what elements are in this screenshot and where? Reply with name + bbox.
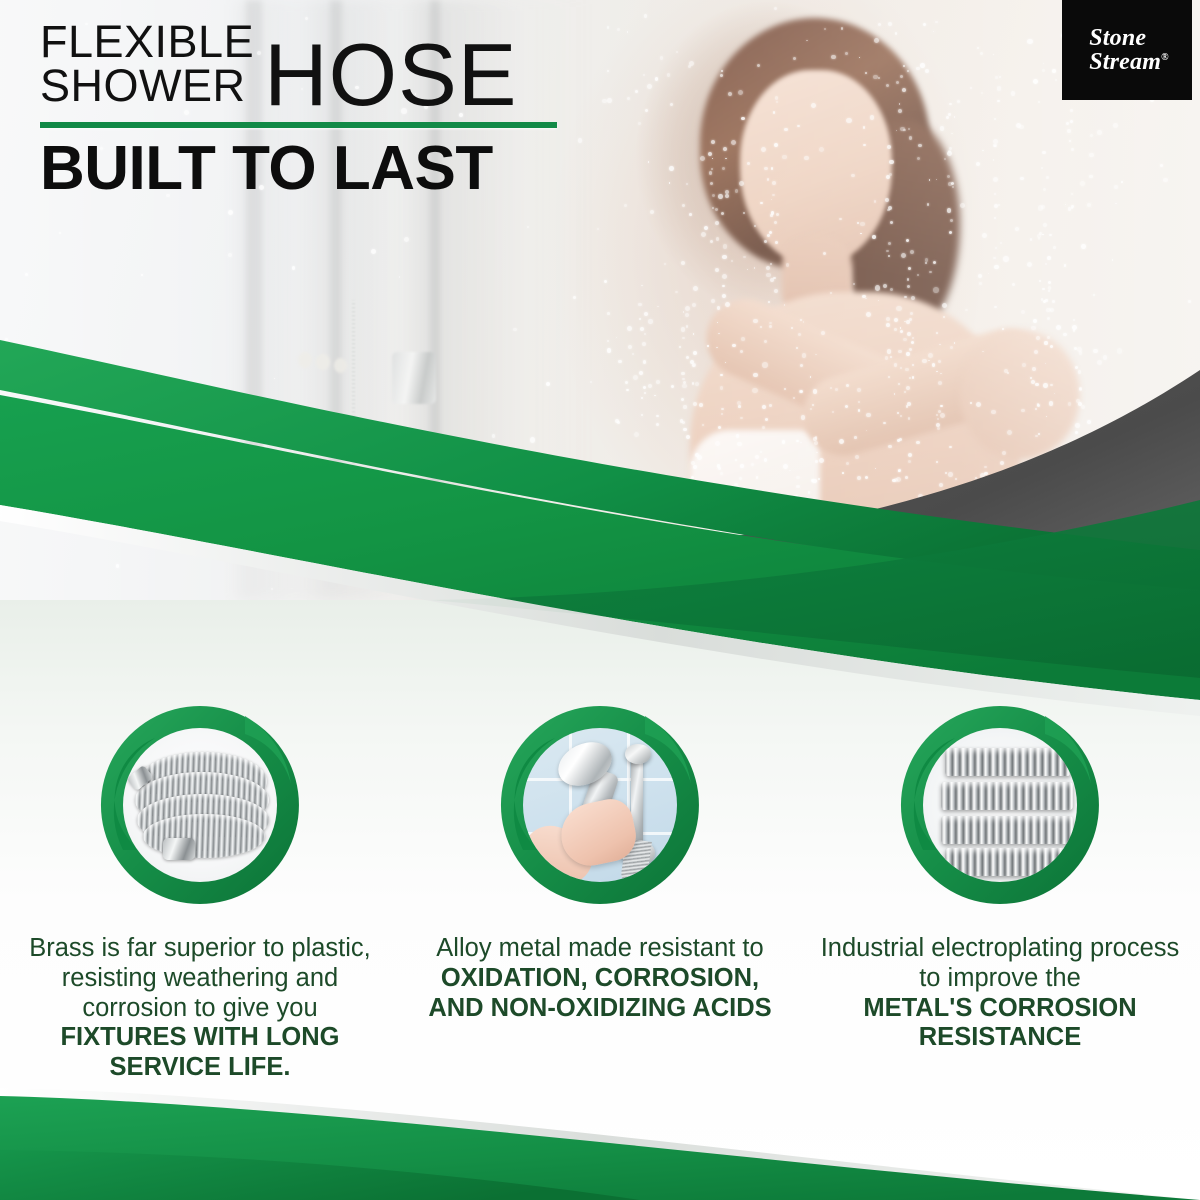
water-droplet [399, 276, 401, 278]
water-droplet-trail [993, 144, 997, 148]
water-droplet [960, 203, 965, 208]
water-droplet [1090, 134, 1093, 137]
water-droplet [819, 147, 824, 152]
water-droplet-trail [947, 208, 952, 213]
water-droplet-trail [722, 167, 725, 170]
water-droplet-trail [886, 250, 889, 253]
water-droplet [718, 194, 723, 199]
brand-logo-text: Stone Stream® [1085, 26, 1169, 75]
water-droplet [681, 261, 685, 265]
water-droplet-trail [1049, 234, 1051, 236]
water-droplet-trail [722, 294, 727, 299]
water-droplet-trail [774, 221, 777, 224]
water-droplet-trail [888, 242, 891, 245]
water-droplet [859, 57, 861, 59]
feature-caption-bold: METAL'S CORROSION RESISTANCE [814, 994, 1186, 1054]
headline-small-lines: FLEXIBLE SHOWER [40, 20, 254, 108]
water-droplet-trail [1042, 288, 1045, 291]
water-droplet [860, 233, 862, 235]
feature-item: Industrial electroplating process to imp… [800, 700, 1200, 1083]
water-droplet-trail [722, 255, 727, 260]
water-droplet-trail [994, 118, 996, 120]
water-droplet [863, 126, 866, 129]
water-droplet-trail [999, 76, 1001, 78]
water-droplet [774, 143, 778, 147]
water-droplet [878, 23, 881, 26]
water-droplet-trail [723, 244, 728, 249]
water-droplet [747, 269, 749, 271]
water-droplet [804, 156, 808, 160]
water-droplet [1081, 244, 1086, 249]
water-droplet [904, 296, 907, 299]
water-droplet-trail [947, 175, 950, 178]
brand-logo-line-2-wrap: Stream® [1089, 50, 1169, 74]
water-droplet-trail [949, 103, 952, 106]
water-droplet-trail [903, 129, 906, 132]
water-droplet [604, 280, 607, 283]
water-droplet [1033, 79, 1038, 84]
water-droplet [901, 253, 907, 259]
water-droplet [767, 178, 770, 181]
water-droplet-trail [949, 231, 953, 235]
water-droplet [923, 23, 926, 26]
water-droplet [935, 21, 938, 24]
water-droplet-trail [994, 193, 996, 195]
water-droplet [404, 237, 409, 242]
water-droplet [1011, 91, 1016, 96]
water-droplet [929, 271, 931, 273]
water-droplet [624, 204, 627, 207]
water-droplet [292, 266, 296, 270]
water-droplet-trail [951, 182, 954, 185]
water-droplet [597, 228, 599, 230]
water-droplet-trail [709, 171, 712, 174]
water-droplet [841, 27, 844, 30]
feature-caption-bold: OXIDATION, CORROSION, AND NON-OXIDIZING … [414, 964, 786, 1024]
hand-holding-showerhead-photo [523, 728, 677, 882]
water-droplet-trail [712, 158, 714, 160]
water-droplet [1080, 181, 1085, 186]
water-droplet [1020, 177, 1024, 181]
water-droplet [731, 260, 734, 263]
water-droplet [731, 140, 736, 145]
water-droplet [811, 103, 816, 108]
water-droplet [874, 200, 876, 202]
water-droplet-trail [1066, 122, 1069, 125]
water-droplet-trail [773, 277, 776, 280]
water-droplet [988, 273, 989, 274]
water-droplet [735, 189, 739, 193]
water-droplet-trail [899, 103, 901, 105]
water-droplet-trail [949, 147, 952, 150]
brand-logo-line-1: Stone [1089, 26, 1169, 50]
water-droplet-trail [715, 268, 719, 272]
water-droplet [757, 64, 760, 67]
water-droplet-trail [776, 213, 779, 216]
water-droplet [830, 292, 832, 294]
water-droplet [669, 182, 671, 184]
water-droplet-trail [722, 285, 725, 288]
water-droplet [667, 73, 670, 76]
water-droplet [1112, 259, 1114, 261]
water-droplet-trail [1046, 176, 1049, 179]
water-droplet-trail [910, 250, 914, 254]
water-droplet [970, 87, 973, 90]
water-droplet [886, 84, 890, 88]
water-droplet-trail [885, 198, 889, 202]
water-droplet [701, 232, 706, 237]
headline-line-2: SHOWER [40, 64, 254, 108]
headline-emphasis: HOSE [264, 38, 517, 112]
water-droplet [925, 69, 929, 73]
water-droplet-trail [772, 181, 776, 185]
water-droplet-trail [907, 278, 910, 281]
water-droplet-trail [997, 100, 999, 102]
water-droplet [1038, 237, 1040, 239]
feature-item: Alloy metal made resistant to OXIDATION,… [400, 700, 800, 1083]
water-droplet [1055, 79, 1057, 81]
water-droplet-trail [888, 255, 890, 257]
water-droplet [981, 92, 983, 94]
water-droplet [1027, 262, 1032, 267]
water-droplet-trail [948, 150, 951, 153]
water-droplet-trail [952, 186, 954, 188]
water-droplet-trail [994, 217, 997, 220]
water-droplet [1000, 242, 1002, 244]
water-droplet [776, 101, 778, 103]
water-droplet [865, 72, 867, 74]
water-droplet-trail [711, 168, 713, 170]
water-droplet-trail [1071, 207, 1073, 209]
brand-logo: Stone Stream® [1062, 0, 1192, 100]
water-droplet [797, 125, 800, 128]
water-droplet-trail [710, 240, 713, 243]
water-droplet-trail [715, 221, 719, 225]
water-droplet [929, 179, 931, 181]
feature-caption-normal: Alloy metal made resistant to [436, 934, 763, 962]
water-droplet [754, 267, 756, 269]
water-droplet [743, 212, 745, 214]
water-droplet-trail [1043, 223, 1047, 227]
water-droplet [979, 282, 982, 285]
water-droplet [860, 222, 864, 226]
water-droplet-trail [994, 204, 998, 208]
water-droplet [933, 261, 936, 264]
water-droplet [976, 162, 980, 166]
water-droplet [853, 283, 855, 285]
water-droplet-trail [1043, 188, 1046, 191]
water-droplet [927, 203, 930, 206]
water-droplet [793, 57, 796, 60]
water-droplet [977, 47, 980, 50]
water-droplet [693, 286, 698, 291]
green-swoosh-svg [0, 300, 1200, 720]
water-droplet-trail [723, 147, 727, 151]
water-droplet [896, 81, 899, 84]
water-droplet [573, 296, 576, 299]
coiled-shower-hose-photo [123, 728, 277, 882]
water-droplet [1015, 227, 1019, 231]
feature-caption-normal: Industrial electroplating process to imp… [821, 934, 1180, 992]
water-droplet [722, 274, 727, 279]
water-droplet [775, 96, 779, 100]
water-droplet [784, 128, 788, 132]
feature-row: Brass is far superior to plastic, resist… [0, 700, 1200, 1083]
water-droplet-trail [1048, 290, 1050, 292]
water-droplet [721, 70, 724, 73]
water-droplet [371, 249, 376, 254]
feature-caption: Industrial electroplating process to imp… [814, 934, 1186, 1053]
water-droplet [774, 7, 777, 10]
water-droplet [903, 65, 905, 67]
water-droplet [1052, 69, 1056, 73]
water-droplet-trail [998, 204, 1000, 206]
water-droplet [771, 167, 773, 169]
water-droplet [738, 90, 743, 95]
water-droplet-trail [887, 209, 890, 212]
water-droplet [993, 54, 994, 55]
water-droplet [682, 204, 685, 207]
water-droplet [747, 162, 750, 165]
water-droplet-trail [1041, 205, 1045, 209]
water-droplet [1163, 178, 1168, 183]
water-droplet-trail [721, 212, 724, 215]
water-droplet [888, 22, 892, 26]
water-droplet-trail [883, 284, 887, 288]
water-droplet [664, 263, 666, 265]
water-droplet [1115, 203, 1117, 205]
water-droplet [670, 103, 673, 106]
water-droplet [940, 126, 944, 130]
water-droplet-trail [1067, 129, 1071, 133]
water-droplet [824, 28, 826, 30]
water-droplet [1097, 130, 1102, 135]
feature-item: Brass is far superior to plastic, resist… [0, 700, 400, 1083]
water-droplet [1043, 63, 1045, 65]
water-droplet [917, 157, 920, 160]
water-droplet-trail [1041, 167, 1044, 170]
water-droplet [644, 14, 647, 17]
water-droplet [228, 210, 233, 215]
headline-top-row: FLEXIBLE SHOWER HOSE [40, 20, 660, 108]
green-swoosh-band [0, 300, 1200, 720]
water-droplet [839, 218, 842, 221]
water-droplet [1064, 264, 1066, 266]
water-droplet [650, 210, 654, 214]
water-droplet [1160, 164, 1163, 167]
water-droplet [933, 31, 934, 32]
water-droplet-trail [1070, 109, 1073, 112]
water-droplet [896, 130, 898, 132]
water-droplet-trail [994, 265, 998, 269]
water-droplet [1089, 153, 1094, 158]
water-droplet [741, 117, 744, 120]
water-droplet [764, 167, 768, 171]
headline-line-1: FLEXIBLE [40, 20, 254, 64]
water-droplet [978, 274, 982, 278]
water-droplet [995, 76, 998, 79]
water-droplet [1114, 185, 1118, 189]
water-droplet [954, 116, 956, 118]
registered-mark-icon: ® [1161, 52, 1169, 63]
water-droplet-trail [907, 285, 910, 288]
feature-caption: Alloy metal made resistant to OXIDATION,… [414, 934, 786, 1023]
water-droplet-trail [900, 75, 904, 79]
water-droplet [1121, 181, 1123, 183]
water-droplet-trail [715, 208, 719, 212]
water-droplet [823, 252, 826, 255]
headline-subline: BUILT TO LAST [40, 138, 660, 200]
water-droplet [863, 144, 865, 146]
water-droplet [141, 274, 144, 277]
water-droplet [806, 40, 808, 42]
water-droplet [918, 144, 922, 148]
water-droplet-trail [767, 234, 770, 237]
water-droplet [1089, 175, 1093, 179]
water-droplet [641, 285, 642, 286]
water-droplet [686, 183, 688, 185]
water-droplet-trail [948, 113, 951, 116]
water-droplet [228, 253, 233, 258]
water-droplet [925, 262, 927, 264]
water-droplet-trail [769, 231, 772, 234]
water-droplet [1042, 69, 1045, 72]
water-droplet-trail [711, 140, 715, 144]
water-droplet-trail [1045, 263, 1047, 265]
water-droplet-trail [1048, 281, 1051, 284]
water-droplet-trail [1070, 120, 1073, 123]
water-droplet-trail [951, 133, 953, 135]
water-droplet [708, 152, 712, 156]
water-droplet [676, 51, 678, 53]
water-droplet [688, 65, 691, 68]
brand-logo-line-2: Stream [1089, 49, 1161, 75]
water-droplet [936, 179, 937, 180]
water-droplet [25, 273, 28, 276]
headline-block: FLEXIBLE SHOWER HOSE BUILT TO LAST [40, 20, 660, 200]
water-droplet-trail [1042, 234, 1044, 236]
water-droplet [1093, 294, 1096, 297]
water-droplet [982, 150, 983, 151]
water-droplet-trail [725, 158, 727, 160]
water-droplet-trail [772, 194, 774, 196]
water-droplet-trail [766, 266, 770, 270]
water-droplet [909, 136, 913, 140]
water-droplet [669, 166, 674, 171]
water-droplet-trail [725, 194, 729, 198]
water-droplet-trail [766, 273, 770, 277]
water-droplet [980, 52, 983, 55]
water-droplet [925, 258, 929, 262]
water-droplet [59, 232, 61, 234]
water-droplet-trail [908, 267, 911, 270]
water-droplet [982, 233, 987, 238]
feature-icon-ring [895, 700, 1105, 910]
water-droplet [846, 118, 851, 123]
water-droplet-trail [890, 288, 894, 292]
water-droplet [712, 194, 715, 197]
water-droplet [660, 56, 664, 60]
water-droplet-trail [712, 207, 715, 210]
water-droplet [675, 291, 677, 293]
water-droplet-trail [950, 219, 953, 222]
water-droplet [1065, 204, 1067, 206]
water-droplet [857, 222, 859, 224]
water-droplet-trail [997, 86, 1002, 91]
water-droplet [872, 235, 875, 238]
water-droplet [874, 38, 879, 43]
water-droplet [946, 116, 949, 119]
water-droplet [782, 155, 787, 160]
water-droplet-trail [771, 211, 775, 215]
water-droplet [1038, 101, 1040, 103]
water-droplet [1003, 256, 1009, 262]
water-droplet [908, 128, 910, 130]
water-droplet [878, 77, 880, 79]
water-droplet [1012, 283, 1016, 287]
water-droplet-trail [886, 175, 890, 179]
water-droplet [720, 74, 723, 77]
water-droplet-trail [890, 221, 893, 224]
water-droplet [870, 115, 875, 120]
water-droplet [728, 92, 732, 96]
water-droplet [933, 287, 938, 292]
water-droplet [993, 177, 998, 182]
water-droplet [916, 67, 919, 70]
water-droplet [716, 237, 719, 240]
water-droplet [873, 75, 877, 79]
water-droplet [773, 111, 776, 114]
water-droplet-trail [770, 263, 772, 265]
water-droplet-trail [1069, 140, 1071, 142]
water-droplet-trail [1053, 246, 1056, 249]
water-droplet-trail [1071, 148, 1075, 152]
water-droplet [760, 202, 762, 204]
water-droplet-trail [710, 182, 713, 185]
water-droplet-trail [898, 109, 902, 113]
water-droplet [944, 158, 946, 160]
water-droplet [1087, 203, 1091, 207]
water-droplet-trail [1071, 193, 1073, 195]
water-droplet [754, 225, 756, 227]
bottom-swoosh-svg [0, 1060, 1200, 1200]
water-droplet-trail [993, 159, 995, 161]
water-droplet-trail [995, 247, 997, 249]
water-droplet [895, 32, 897, 34]
water-droplet [1113, 123, 1118, 128]
water-droplet [1030, 238, 1033, 241]
water-droplet [774, 289, 778, 293]
water-droplet [527, 226, 529, 228]
water-droplet-trail [887, 145, 891, 149]
water-droplet-trail [993, 257, 996, 260]
water-droplet [700, 156, 705, 161]
feature-icon-ring [95, 700, 305, 910]
water-droplet [1019, 125, 1024, 130]
feature-caption-normal: Brass is far superior to plastic, resist… [29, 934, 371, 1022]
water-droplet [764, 240, 767, 243]
water-droplet [851, 174, 854, 177]
water-droplet [1027, 39, 1032, 44]
feature-icon-ring [495, 700, 705, 910]
water-droplet-trail [775, 241, 778, 244]
water-droplet [689, 213, 692, 216]
product-infographic: FLEXIBLE SHOWER HOSE BUILT TO LAST Stone… [0, 0, 1200, 1200]
water-droplet [845, 52, 848, 55]
water-droplet [831, 55, 836, 60]
water-droplet-trail [889, 160, 894, 165]
water-droplet [920, 63, 924, 67]
